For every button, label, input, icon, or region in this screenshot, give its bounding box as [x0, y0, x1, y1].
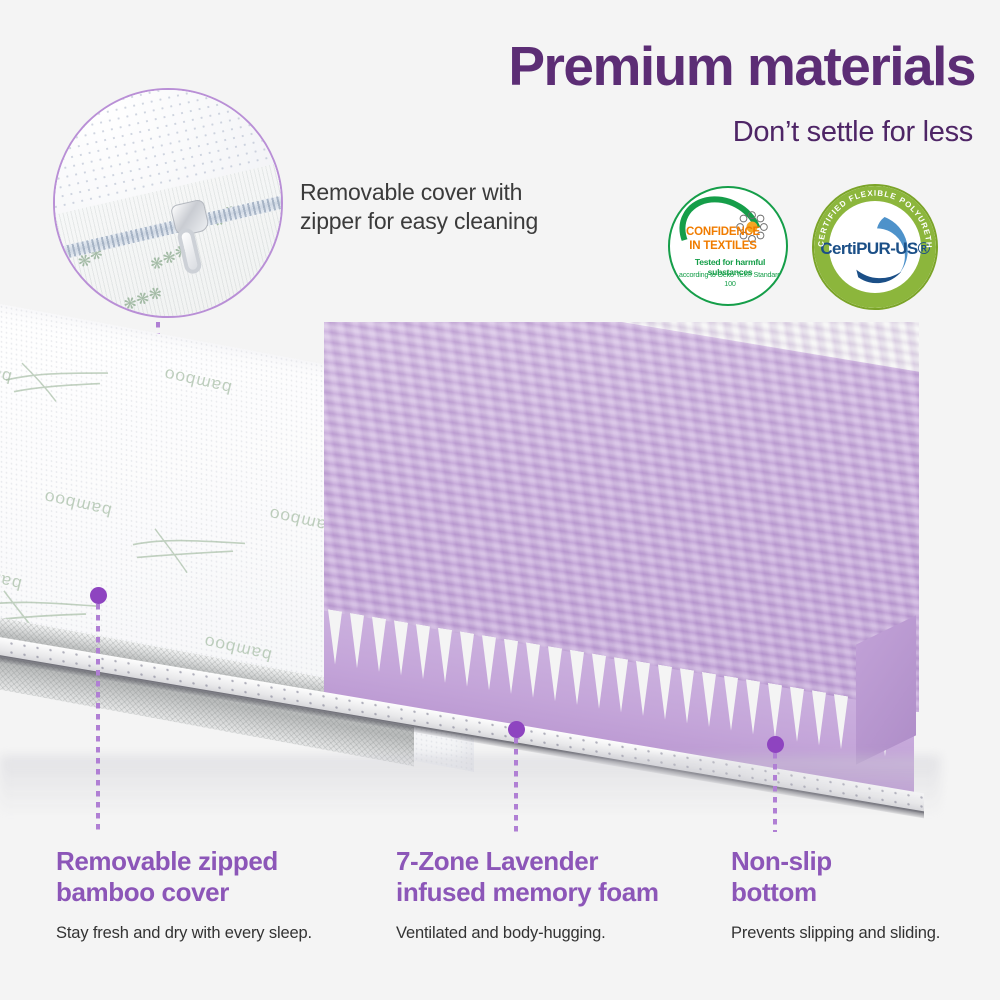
feature-description: Prevents slipping and sliding.	[731, 924, 981, 943]
svg-text:WWW.CERTIPUR.US: WWW.CERTIPUR.US	[833, 260, 918, 293]
certipur-arc-top: CONTAINS CERTIFIED FLEXIBLE POLYURETHANE…	[814, 186, 933, 249]
oeko-line-1: CONFIDENCE	[684, 226, 762, 238]
oeko-tex-badge: CONFIDENCE IN TEXTILES Tested for harmfu…	[668, 186, 788, 306]
connector-dot-foam	[508, 721, 525, 738]
certipur-us-badge: CertiPUR-US® CONTAINS CERTIFIED FLEXIBLE…	[812, 184, 938, 310]
feature-description: Ventilated and body-hugging.	[396, 924, 726, 943]
feature-description: Stay fresh and dry with every sleep.	[56, 924, 376, 943]
page-title: Premium materials	[508, 38, 975, 96]
feature-title: Non-slipbottom	[731, 846, 981, 908]
feature-memory-foam: 7-Zone Lavenderinfused memory foam Venti…	[396, 846, 726, 943]
mattress-topper-image: bamboo bamboo bamboo bamboo bamboo bambo…	[0, 330, 934, 770]
connector-line-foam	[514, 738, 518, 832]
page-subtitle: Don’t settle for less	[733, 116, 973, 149]
zipper-callout-text: Removable cover withzipper for easy clea…	[300, 178, 538, 237]
feature-non-slip: Non-slipbottom Prevents slipping and sli…	[731, 846, 981, 943]
connector-line-base	[773, 753, 777, 832]
certipur-arc-bottom: WWW.CERTIPUR.US	[833, 260, 918, 293]
floor-reflection	[0, 756, 940, 816]
infographic-canvas: Premium materials Don’t settle for less …	[0, 0, 1000, 1000]
connector-line-cover	[96, 604, 100, 832]
feature-title: 7-Zone Lavenderinfused memory foam	[396, 846, 726, 908]
zipper-detail-inset: ❋❋ ❋❋❋ ❋❋ ❋❋❋	[53, 88, 283, 318]
feature-removable-cover: Removable zippedbamboo cover Stay fresh …	[56, 846, 376, 943]
oeko-line-2: IN TEXTILES	[684, 240, 762, 252]
svg-text:CONTAINS CERTIFIED FLEXIBLE PO: CONTAINS CERTIFIED FLEXIBLE POLYURETHANE…	[814, 186, 933, 249]
feature-title: Removable zippedbamboo cover	[56, 846, 376, 908]
certipur-arc-text: CONTAINS CERTIFIED FLEXIBLE POLYURETHANE…	[814, 186, 936, 308]
connector-dot-base	[767, 736, 784, 753]
connector-dot-cover	[90, 587, 107, 604]
oeko-line-4: according to Oeko-Tex® Standard 100	[676, 270, 784, 288]
